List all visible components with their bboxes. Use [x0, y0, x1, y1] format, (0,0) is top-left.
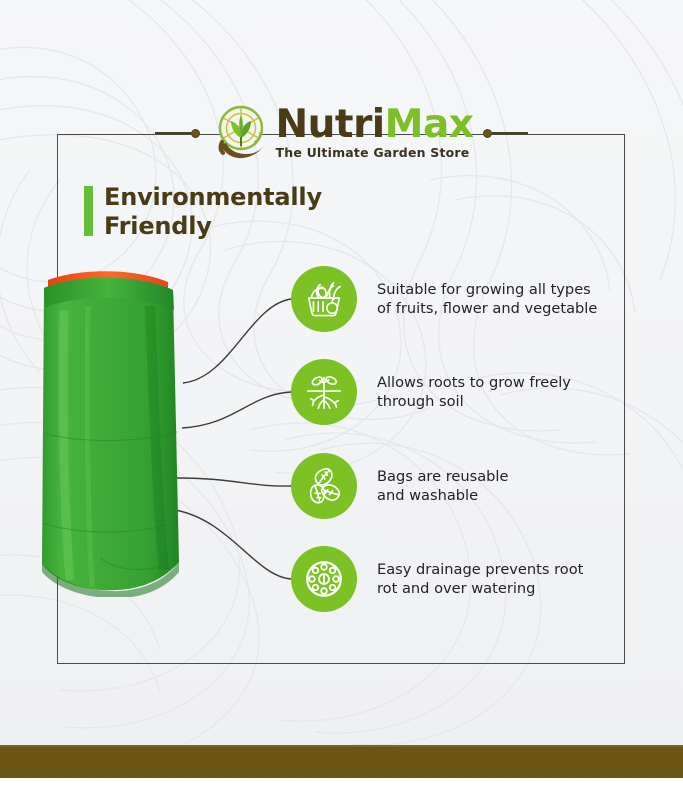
decoration-dot: [483, 129, 492, 138]
decoration-dot: [191, 129, 200, 138]
feature-text-1-line-1: Suitable for growing all types: [377, 280, 597, 299]
title-text: Environmentally Friendly: [104, 183, 322, 242]
right-decoration: [483, 129, 528, 138]
feature-text-4-line-1: Easy drainage prevents root: [377, 560, 583, 579]
feature-text-3-line-2: and washable: [377, 486, 508, 505]
feature-text-2-line-1: Allows roots to grow freely: [377, 373, 571, 392]
brand-logo-header: NutriMax The Ultimate Garden Store: [0, 100, 683, 166]
title-line-2: Friendly: [104, 212, 212, 240]
page-title: Environmentally Friendly: [84, 183, 322, 242]
footer-bar: [0, 745, 683, 782]
feature-text-4-line-2: rot and over watering: [377, 579, 583, 598]
brand-name-second: Max: [385, 102, 474, 147]
recycle-leaves-icon: [291, 453, 357, 519]
brand-tagline: The Ultimate Garden Store: [276, 145, 474, 160]
feature-text-4: Easy drainage prevents root rot and over…: [377, 560, 583, 599]
left-decoration: [155, 129, 200, 138]
footer-white-space: [0, 778, 683, 800]
feature-item-1: Suitable for growing all types of fruits…: [291, 266, 597, 332]
decoration-line: [155, 132, 191, 134]
feature-text-2: Allows roots to grow freely through soil: [377, 373, 571, 412]
decoration-line: [492, 132, 528, 134]
brand-name-first: Nutri: [276, 102, 385, 147]
feature-item-4: Easy drainage prevents root rot and over…: [291, 546, 583, 612]
feature-text-3-line-1: Bags are reusable: [377, 467, 508, 486]
feature-text-1: Suitable for growing all types of fruits…: [377, 280, 597, 319]
drainage-holes-icon: [291, 546, 357, 612]
feature-text-1-line-2: of fruits, flower and vegetable: [377, 299, 597, 318]
feature-text-3: Bags are reusable and washable: [377, 467, 508, 506]
feature-text-2-line-2: through soil: [377, 392, 571, 411]
leaf-in-circle-with-hand-icon: [210, 102, 272, 164]
sprout-with-roots-icon: [291, 359, 357, 425]
feature-item-3: Bags are reusable and washable: [291, 453, 508, 519]
green-grow-bag-product-image: [40, 262, 205, 597]
title-accent-bar: [84, 186, 93, 236]
title-line-1: Environmentally: [104, 183, 322, 211]
brand-wordmark: NutriMax The Ultimate Garden Store: [276, 106, 474, 159]
infographic-canvas: NutriMax The Ultimate Garden Store Envir…: [0, 0, 683, 800]
brand-name: NutriMax: [276, 106, 474, 143]
feature-item-2: Allows roots to grow freely through soil: [291, 359, 571, 425]
vegetable-basket-icon: [291, 266, 357, 332]
